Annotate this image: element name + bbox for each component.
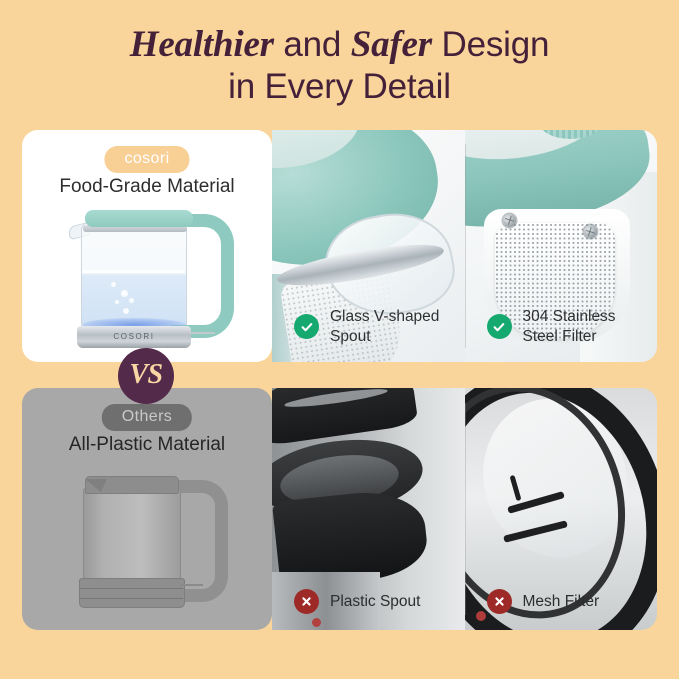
panel-divider xyxy=(465,403,466,616)
title-emphasis-healthier: Healthier xyxy=(130,24,274,65)
others-card-heading: All-Plastic Material xyxy=(22,434,272,456)
feature-label: Glass V-shaped Spout xyxy=(330,307,460,346)
page-title: Healthier and Safer Design in Every Deta… xyxy=(0,24,679,108)
others-product-card: Others All-Plastic Material xyxy=(22,388,272,630)
vs-label: VS xyxy=(129,359,162,391)
title-line-2: in Every Detail xyxy=(0,67,679,108)
kettle-base xyxy=(79,578,185,608)
comparison-row-others: Others All-Plastic Material xyxy=(22,388,657,630)
base-seam xyxy=(79,598,183,599)
water-bubble xyxy=(115,300,119,304)
photo-stainless-filter: 304 Stainless Steel Filter xyxy=(465,130,658,362)
vs-badge: VS xyxy=(118,348,174,404)
title-conjunction: and xyxy=(274,25,351,64)
screw-icon xyxy=(584,225,597,238)
feature-label: Plastic Spout xyxy=(330,592,420,611)
title-line-1: Healthier and Safer Design xyxy=(0,24,679,67)
water-bubble xyxy=(129,298,134,303)
screw-icon xyxy=(503,214,516,227)
feature-mesh-filter: Mesh Filter xyxy=(487,589,600,614)
feature-label: 304 Stainless Steel Filter xyxy=(523,307,653,346)
title-word-design: Design xyxy=(432,25,549,64)
brand-badge-cosori: cosori xyxy=(104,146,189,173)
water-bubble xyxy=(111,282,116,287)
kettle-base-brand-text: COSORI xyxy=(77,332,191,341)
infographic-root: Healthier and Safer Design in Every Deta… xyxy=(0,0,679,679)
water-bubble xyxy=(123,308,129,314)
panel-divider xyxy=(465,144,466,348)
check-icon xyxy=(294,314,319,339)
photo-plastic-spout: Plastic Spout xyxy=(272,388,465,630)
photo-mesh-filter: Mesh Filter xyxy=(465,388,658,630)
cosori-card-heading: Food-Grade Material xyxy=(22,176,272,198)
water-bubble xyxy=(121,290,128,297)
kettle-lid xyxy=(85,210,193,227)
cross-icon xyxy=(294,589,319,614)
cosori-product-card: cosori Food-Grade Material COSORI xyxy=(22,130,272,362)
cross-icon xyxy=(487,589,512,614)
feature-label: Mesh Filter xyxy=(523,592,600,611)
comparison-row-cosori: cosori Food-Grade Material COSORI xyxy=(22,130,657,362)
check-icon xyxy=(487,314,512,339)
base-seam xyxy=(79,588,183,589)
title-emphasis-safer: Safer xyxy=(351,24,432,65)
plastic-kettle-illustration xyxy=(63,466,231,618)
indicator-light xyxy=(476,611,486,621)
feature-plastic-spout: Plastic Spout xyxy=(294,589,420,614)
kettle-water-line xyxy=(82,270,184,273)
glass-kettle-illustration: COSORI xyxy=(63,206,231,356)
feature-glass-v-spout: Glass V-shaped Spout xyxy=(294,307,460,346)
kettle-handle xyxy=(171,214,234,338)
kettle-cord xyxy=(189,332,215,334)
brand-badge-others: Others xyxy=(102,404,192,431)
feature-stainless-filter: 304 Stainless Steel Filter xyxy=(487,307,653,346)
photo-glass-v-spout: Glass V-shaped Spout xyxy=(272,130,465,362)
kettle-cord xyxy=(181,584,203,586)
